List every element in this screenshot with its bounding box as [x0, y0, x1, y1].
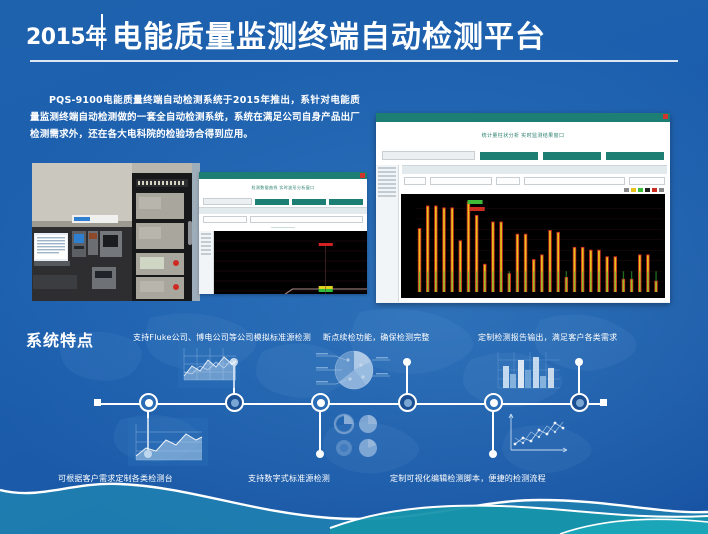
window-body: 检测数据曲线 实时波形分析窗口 ——————— — [199, 179, 367, 294]
terminal-id-field[interactable] — [430, 177, 492, 185]
intro-paragraph: PQS-9100电能质量终端自动检测系统于2015年推出，系针对电能质量监测终端… — [30, 92, 360, 143]
timeline-stem-4 — [406, 362, 408, 395]
timeline-stem-6 — [578, 362, 580, 395]
tree-sidebar[interactable] — [199, 231, 214, 294]
header-underline — [30, 60, 678, 62]
id-label — [404, 177, 426, 185]
header-year: 2015年 — [26, 19, 107, 51]
window-titlebar — [376, 113, 670, 122]
timeline-node-2[interactable] — [225, 393, 244, 412]
feature-label-2: 支持Fluke公司、博电公司等公司模拟标准源检测 — [133, 332, 311, 343]
pause-button[interactable] — [292, 199, 326, 205]
pause-button[interactable] — [543, 152, 601, 160]
filter-row — [199, 214, 367, 225]
feature-label-4: 断点续检功能，确保检测完整 — [323, 332, 430, 343]
close-icon[interactable] — [360, 173, 365, 178]
progress-bar — [203, 198, 252, 205]
timeline-start-cap — [94, 399, 101, 406]
filter-row — [399, 174, 670, 188]
start-button[interactable] — [480, 152, 538, 160]
timeline-node-6[interactable] — [570, 393, 589, 412]
test-item-field[interactable] — [524, 177, 625, 185]
lab-photo-illustration — [32, 163, 200, 301]
query-button[interactable] — [629, 177, 665, 185]
timeline-axis — [98, 403, 603, 405]
bar-chart-icon — [494, 346, 568, 399]
window-heading: 检测数据曲线 实时波形分析窗口 — [199, 179, 367, 196]
subheader-bar — [199, 207, 367, 214]
waveform-chart — [214, 231, 367, 294]
stop-button[interactable] — [329, 199, 363, 205]
window-heading: 统计量柱状分析 实时监测结果窗口 — [376, 122, 670, 148]
decorative-waves — [0, 456, 708, 534]
screenshot-waveform-window[interactable]: 检测数据曲线 实时波形分析窗口 ——————— — [199, 172, 367, 294]
line-area-chart-icon — [178, 344, 240, 393]
harmonic-bar-chart — [401, 194, 665, 298]
poster-page: 2015年 电能质量监测终端自动检测平台 PQS-9100电能质量终端自动检测系… — [0, 0, 708, 534]
toolbar-row — [199, 196, 367, 207]
toolbar-row — [376, 148, 670, 163]
timeline-end-cap — [600, 399, 607, 406]
window-titlebar — [199, 172, 367, 179]
page-title: 电能质量监测终端自动检测平台 — [112, 12, 546, 56]
close-icon[interactable] — [663, 114, 668, 119]
start-button[interactable] — [255, 199, 289, 205]
item-label — [496, 177, 520, 185]
test-item-field — [250, 216, 363, 223]
timeline-stem-5 — [492, 412, 494, 454]
intro-paragraph-block: PQS-9100电能质量终端自动检测系统于2015年推出，系针对电能质量监测终端… — [30, 92, 360, 143]
lab-equipment-photo — [32, 163, 200, 301]
tree-sidebar[interactable] — [376, 165, 399, 302]
feature-label-6: 定制检测报告输出，满足客户各类需求 — [478, 332, 617, 343]
timeline-node-1[interactable] — [139, 393, 158, 412]
panel-header — [402, 165, 667, 174]
stop-button[interactable] — [606, 152, 664, 160]
pie-chart-icon — [306, 346, 402, 399]
header-divider — [101, 14, 103, 50]
timeline-stem-3 — [319, 412, 321, 454]
terminal-id-field — [203, 216, 247, 223]
poster-header: 2015年 电能质量监测终端自动检测平台 — [0, 0, 708, 72]
window-body: 统计量柱状分析 实时监测结果窗口 — [376, 122, 670, 302]
screenshot-bar-analysis-window[interactable]: 统计量柱状分析 实时监测结果窗口 — [376, 113, 670, 303]
progress-bar — [382, 151, 475, 160]
